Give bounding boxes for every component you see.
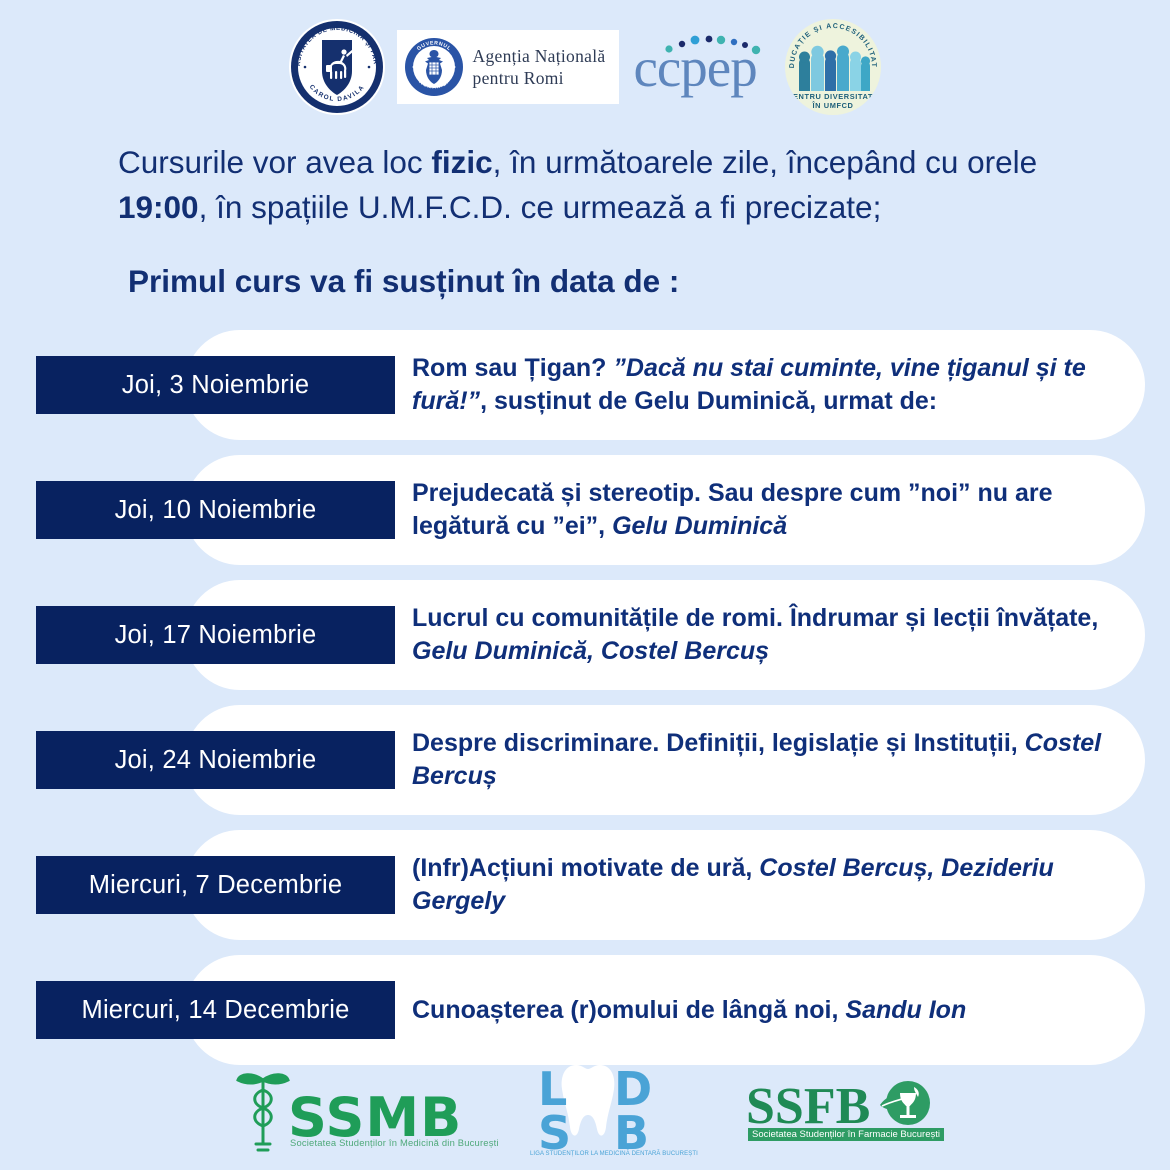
ssfb-tagline: Societatea Studenților în Farmacie Bucur… (748, 1128, 944, 1141)
description-segment: Gelu Duminică (612, 512, 787, 540)
educatie-accesibilitate-badge: EDUCAȚIE ȘI ACCESIBILITATE PENTRU DIVERS… (785, 19, 881, 115)
description-segment: Gelu Duminică (634, 387, 809, 415)
date-badge: Joi, 24 Noiembrie (36, 731, 395, 789)
course-description: (Infr)Acțiuni motivate de ură, Costel Be… (412, 830, 1130, 940)
date-badge: Joi, 10 Noiembrie (36, 481, 395, 539)
description-segment: Lucrul cu comunitățile de romi. Îndrumar… (412, 604, 1098, 632)
description-segment: Sandu Ion (845, 996, 966, 1024)
edu-badge-art: EDUCAȚIE ȘI ACCESIBILITATE PENTRU DIVERS… (785, 19, 881, 115)
anr-wordmark: Agenția Națională pentru Romi (473, 45, 606, 89)
ccpep-wordmark: ccpep (633, 40, 756, 95)
date-badge: Miercuri, 7 Decembrie (36, 856, 395, 914)
ssmb-logo: SSMB Societatea Studenților în Medicină … (232, 1066, 452, 1158)
date-label: Miercuri, 14 Decembrie (82, 996, 350, 1025)
date-badge: Miercuri, 14 Decembrie (36, 981, 395, 1039)
footer-logo-bar: SSMB Societatea Studenților în Medicină … (0, 1060, 1170, 1164)
intro-part-3: , în spațiile U.M.F.C.D. ce urmează a fi… (199, 189, 882, 225)
lsmdb-art: L D S B (530, 1063, 660, 1161)
date-label: Joi, 24 Noiembrie (115, 746, 317, 775)
intro-part-2: , în următoarele zile, începând cu orele (493, 144, 1038, 180)
course-description: Lucrul cu comunitățile de romi. Îndrumar… (412, 580, 1130, 690)
intro-paragraph: Cursurile vor avea loc fizic, în următoa… (0, 140, 1170, 229)
intro-bold-time: 19:00 (118, 189, 199, 225)
lsmdb-tagline: LIGA STUDENȚILOR LA MEDICINĂ DENTARĂ BUC… (530, 1151, 660, 1157)
date-badge: Joi, 17 Noiembrie (36, 606, 395, 664)
intro-bold-fizic: fizic (431, 144, 492, 180)
schedule-row: Joi, 3 Noiembrie Rom sau Țigan? ”Dacă nu… (0, 330, 1170, 455)
header-logo-bar: UNIVERSITATEA DE MEDICINĂ ȘI FARMACIE CA… (0, 0, 1170, 118)
description-segment: Cunoașterea (r)omului de lângă noi, (412, 996, 845, 1024)
description-segment: Gelu Duminică, Costel Bercuș (412, 637, 769, 665)
ccpep-logo: ccpep (633, 31, 769, 103)
schedule-row: Joi, 24 Noiembrie Despre discriminare. D… (0, 705, 1170, 830)
schedule-row: Miercuri, 7 Decembrie (Infr)Acțiuni moti… (0, 830, 1170, 955)
umf-seal-art: UNIVERSITATEA DE MEDICINĂ ȘI FARMACIE CA… (289, 19, 385, 115)
schedule-row: Joi, 17 Noiembrie Lucrul cu comunitățile… (0, 580, 1170, 705)
date-label: Miercuri, 7 Decembrie (89, 871, 343, 900)
caduceus-icon (232, 1068, 294, 1156)
course-description: Cunoașterea (r)omului de lângă noi, Sand… (412, 955, 1130, 1065)
guvernul-romaniei-seal: GUVERNUL ROMÂNIEI (405, 38, 463, 96)
bowl-of-hygieia-icon (878, 1077, 934, 1133)
course-description: Prejudecată și stereotip. Sau despre cum… (412, 455, 1130, 565)
anr-line-1: Agenția Națională (473, 45, 606, 67)
umf-carol-davila-seal: UNIVERSITATEA DE MEDICINĂ ȘI FARMACIE CA… (289, 19, 385, 115)
lsmdb-logo: L D S B LIGA STUDENȚILOR LA MEDICINĂ DEN… (530, 1063, 660, 1161)
description-segment: , susținut de (480, 387, 634, 415)
gov-seal-art: GUVERNUL ROMÂNIEI (405, 38, 463, 96)
description-segment: Rom sau Țigan? (412, 354, 613, 382)
date-badge: Joi, 3 Noiembrie (36, 356, 395, 414)
course-description: Despre discriminare. Definiții, legislaț… (412, 705, 1130, 815)
date-label: Joi, 10 Noiembrie (115, 496, 317, 525)
svg-text:PENTRU DIVERSITATE: PENTRU DIVERSITATE (788, 92, 879, 101)
svg-text:ÎN UMFCD: ÎN UMFCD (812, 101, 854, 110)
description-segment: Despre discriminare. Definiții, legislaț… (412, 729, 1025, 757)
course-description: Rom sau Țigan? ”Dacă nu stai cuminte, vi… (412, 330, 1130, 440)
agentia-nationala-pentru-romi-logo: GUVERNUL ROMÂNIEI (397, 30, 620, 104)
schedule-list: Joi, 3 Noiembrie Rom sau Țigan? ”Dacă nu… (0, 330, 1170, 1080)
intro-part-1: Cursurile vor avea loc (118, 144, 431, 180)
subtitle-first-course: Primul curs va fi susținut în data de : (0, 263, 1170, 300)
date-label: Joi, 3 Noiembrie (122, 371, 309, 400)
ssmb-tagline: Societatea Studenților în Medicină din B… (290, 1137, 499, 1148)
description-segment: , urmat de: (809, 387, 937, 415)
schedule-row: Joi, 10 Noiembrie Prejudecată și stereot… (0, 455, 1170, 580)
date-label: Joi, 17 Noiembrie (115, 621, 317, 650)
anr-line-2: pentru Romi (473, 67, 606, 89)
description-segment: (Infr)Acțiuni motivate de ură, (412, 854, 759, 882)
ssfb-logo: SSFB Societatea Studenților în Farmacie … (738, 1075, 938, 1149)
